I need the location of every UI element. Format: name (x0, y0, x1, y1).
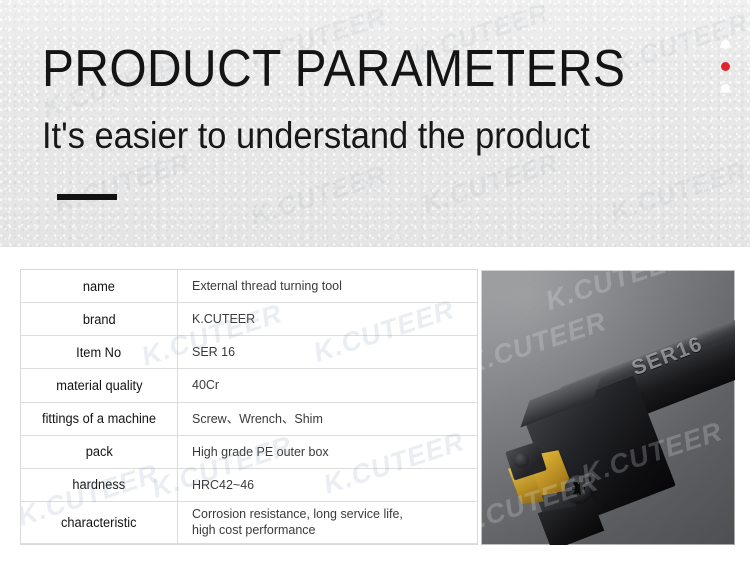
title-accent-bar (57, 194, 117, 200)
table-row: material quality 40Cr (21, 369, 477, 402)
spec-label-text: material quality (56, 378, 142, 393)
spec-label: hardness (21, 469, 178, 501)
product-parameters-page: K.CUTEER K.CUTEER K.CUTEER K.CUTEER K.CU… (0, 0, 750, 569)
spec-value: Screw、Wrench、Shim (178, 403, 477, 435)
table-row: hardness HRC42~46 (21, 469, 477, 502)
table-row: name External thread turning tool (21, 270, 477, 303)
dot-nav[interactable] (717, 40, 733, 93)
spec-value-line: Screw、Wrench、Shim (192, 411, 458, 427)
dot-indicator-2-active[interactable] (721, 62, 730, 71)
spec-value: 40Cr (178, 369, 477, 401)
spec-label: name (21, 270, 178, 302)
watermark-text: K.CUTEER (542, 270, 690, 317)
spec-label-text: brand (83, 312, 116, 327)
page-title: PRODUCT PARAMETERS (42, 39, 625, 99)
spec-label-text: fittings of a machine (42, 411, 156, 426)
spec-label-text: pack (85, 444, 112, 459)
table-row: Item No SER 16 (21, 336, 477, 369)
spec-value-line: 40Cr (192, 377, 458, 393)
spec-value: HRC42~46 (178, 469, 477, 501)
table-row: pack High grade PE outer box (21, 436, 477, 469)
spec-value-line: External thread turning tool (192, 278, 458, 294)
spec-value-line: Corrosion resistance, long service life, (192, 506, 458, 522)
spec-label: material quality (21, 369, 178, 401)
spec-label-text: hardness (73, 477, 126, 492)
spec-label-text: characteristic (61, 515, 137, 530)
spec-value: High grade PE outer box (178, 436, 477, 468)
spec-value-line: High grade PE outer box (192, 444, 458, 460)
header-banner: K.CUTEER K.CUTEER K.CUTEER K.CUTEER K.CU… (0, 0, 750, 247)
spec-value: Corrosion resistance, long service life,… (178, 502, 477, 543)
watermark-text: K.CUTEER (607, 155, 750, 228)
spec-label-text: name (83, 279, 115, 294)
spec-value-line: SER 16 (192, 344, 458, 360)
spec-value: External thread turning tool (178, 270, 477, 302)
spec-table: name External thread turning tool brand … (20, 269, 478, 545)
spec-label: pack (21, 436, 178, 468)
spec-value-line: K.CUTEER (192, 311, 458, 327)
table-row: brand K.CUTEER (21, 303, 477, 336)
table-row: fittings of a machine Screw、Wrench、Shim (21, 403, 477, 436)
spec-value-line: high cost performance (192, 522, 458, 538)
spec-value-line: HRC42~46 (192, 477, 458, 493)
product-photo[interactable]: SER16 K.CUTEER K.CUTEER K.CUTEER K.CUTEE… (481, 270, 735, 545)
dot-indicator-1[interactable] (721, 40, 730, 49)
spec-label: Item No (21, 336, 178, 368)
watermark-text: K.CUTEER (247, 159, 391, 232)
spec-label: brand (21, 303, 178, 335)
spec-value: K.CUTEER (178, 303, 477, 335)
dot-indicator-3[interactable] (721, 84, 730, 93)
page-subtitle: It's easier to understand the product (42, 113, 590, 159)
spec-label: characteristic (21, 502, 178, 543)
spec-label: fittings of a machine (21, 403, 178, 435)
table-row: characteristic Corrosion resistance, lon… (21, 502, 477, 544)
clamp-screw-small (514, 453, 529, 468)
spec-value: SER 16 (178, 336, 477, 368)
torx-screw (565, 475, 592, 502)
watermark-text: K.CUTEER (481, 306, 610, 381)
spec-label-text: Item No (77, 345, 122, 360)
